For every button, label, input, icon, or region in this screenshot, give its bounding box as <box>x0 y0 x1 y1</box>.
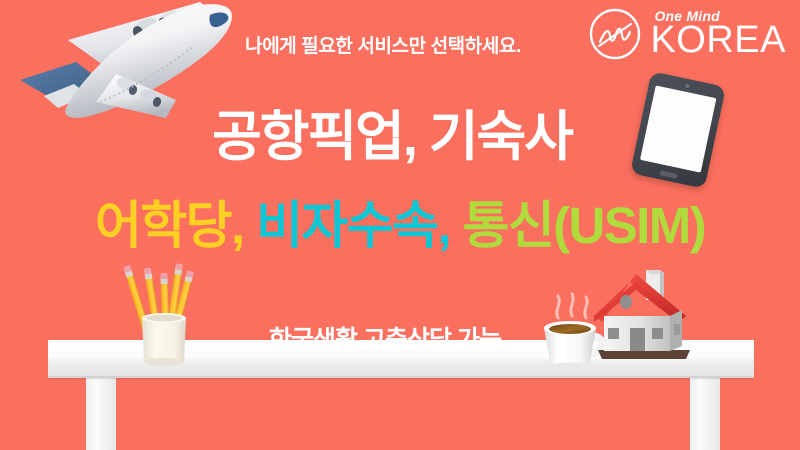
phone-camera <box>685 84 690 89</box>
logo-title: KOREA <box>650 21 786 59</box>
logo-wordmark: One Mind KOREA <box>650 9 786 59</box>
table-shadow <box>48 376 754 381</box>
headline-segment-3: , <box>437 197 462 254</box>
headline-line-2: 어학당, 비자수속, 통신(USIM) <box>0 184 800 258</box>
one-mind-emblem-icon <box>587 6 643 62</box>
headline-line-1: 공항픽업, 기숙사 <box>0 92 800 171</box>
headline-segment-1: , <box>231 197 256 254</box>
table-leg-left <box>86 378 116 450</box>
headline-segment-0: 어학당 <box>95 197 231 254</box>
table-leg-right <box>690 378 720 450</box>
brand-logo[interactable]: One Mind KOREA <box>587 6 786 62</box>
promo-banner: One Mind KOREA 나에게 필요한 서비스만 선택하세요. 공항픽업,… <box>0 0 800 450</box>
caption: 한국생활 고충상담 가능 <box>0 320 800 356</box>
phone-home-button <box>659 170 678 179</box>
headline-segment-4: 통신(USIM) <box>463 197 706 254</box>
headline-segment-2: 비자수속 <box>256 197 437 254</box>
